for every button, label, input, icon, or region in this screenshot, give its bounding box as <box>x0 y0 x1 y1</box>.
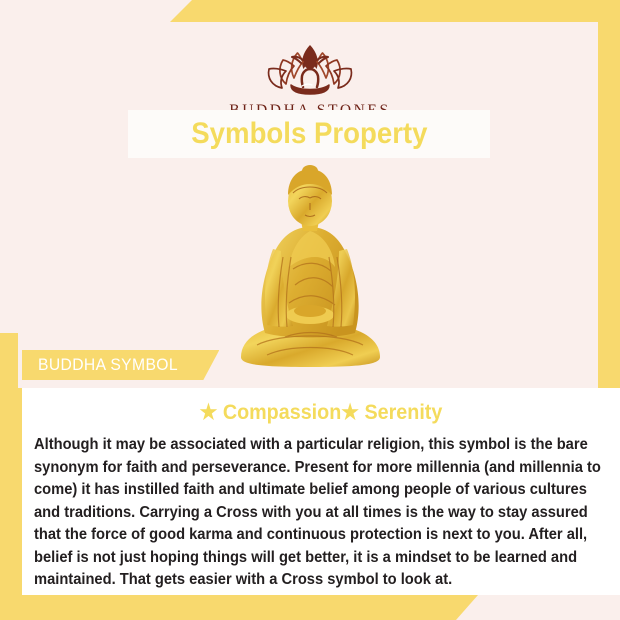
buddha-symbol-tag-label: BUDDHA SYMBOL <box>38 356 178 375</box>
content-paragraph: Although it may be associated with a par… <box>34 434 605 592</box>
buddha-symbol-tag: BUDDHA SYMBOL <box>22 350 219 380</box>
decorative-frame-bottom <box>0 595 478 620</box>
title-banner: Symbols Property <box>128 110 490 158</box>
golden-seated-buddha-statue <box>223 165 398 370</box>
content-subtitle: ★ Compassion★ Serenity <box>51 400 591 425</box>
poster-root: BUDDHA STONES Symbols Property <box>0 0 620 620</box>
lotus-meditation-figure-icon <box>250 40 370 98</box>
page-title: Symbols Property <box>191 117 427 151</box>
content-panel: ★ Compassion★ Serenity Although it may b… <box>22 388 620 595</box>
decorative-frame-top <box>170 0 620 22</box>
brand-logo: BUDDHA STONES <box>0 40 620 120</box>
buddha-statue-image <box>0 160 620 370</box>
